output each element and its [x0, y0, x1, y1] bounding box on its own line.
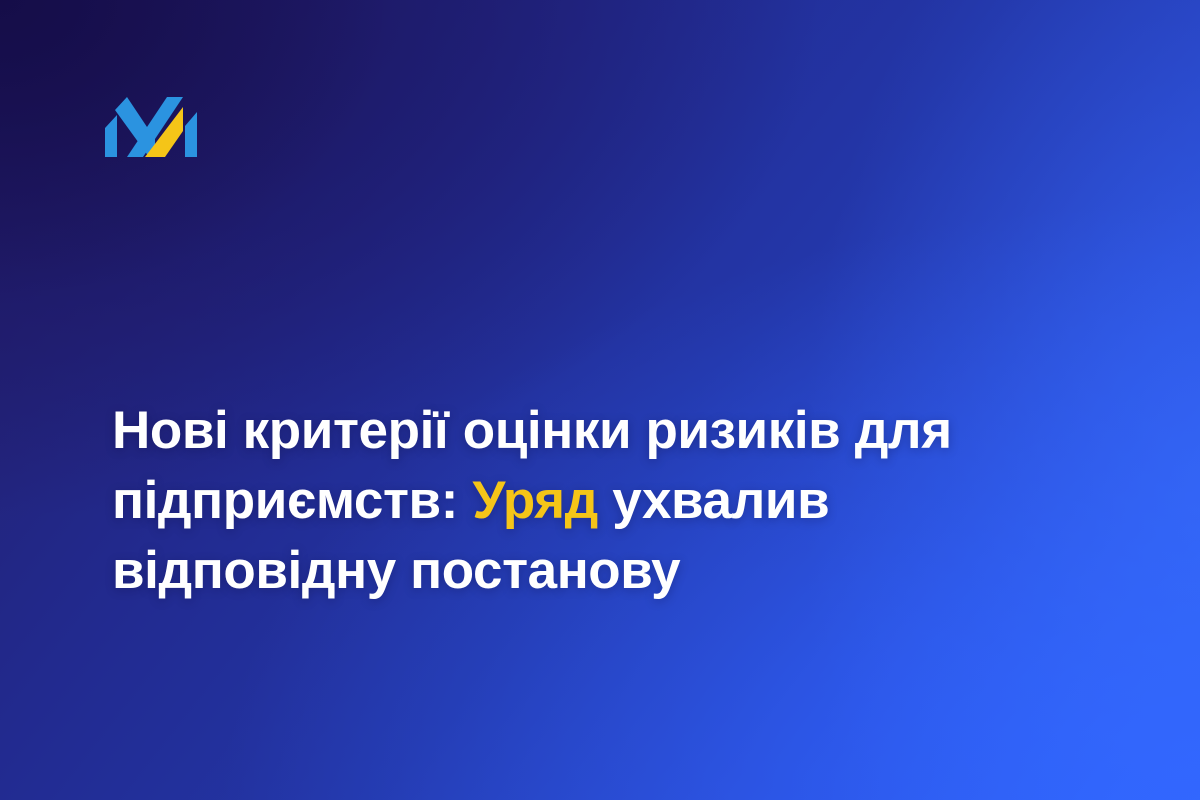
headline-highlight: Уряд: [472, 471, 598, 530]
page-title: Нові критерії оцінки ризиків для підприє…: [112, 396, 1092, 606]
news-card: Нові критерії оцінки ризиків для підприє…: [0, 0, 1200, 800]
m-logo[interactable]: [105, 97, 197, 157]
